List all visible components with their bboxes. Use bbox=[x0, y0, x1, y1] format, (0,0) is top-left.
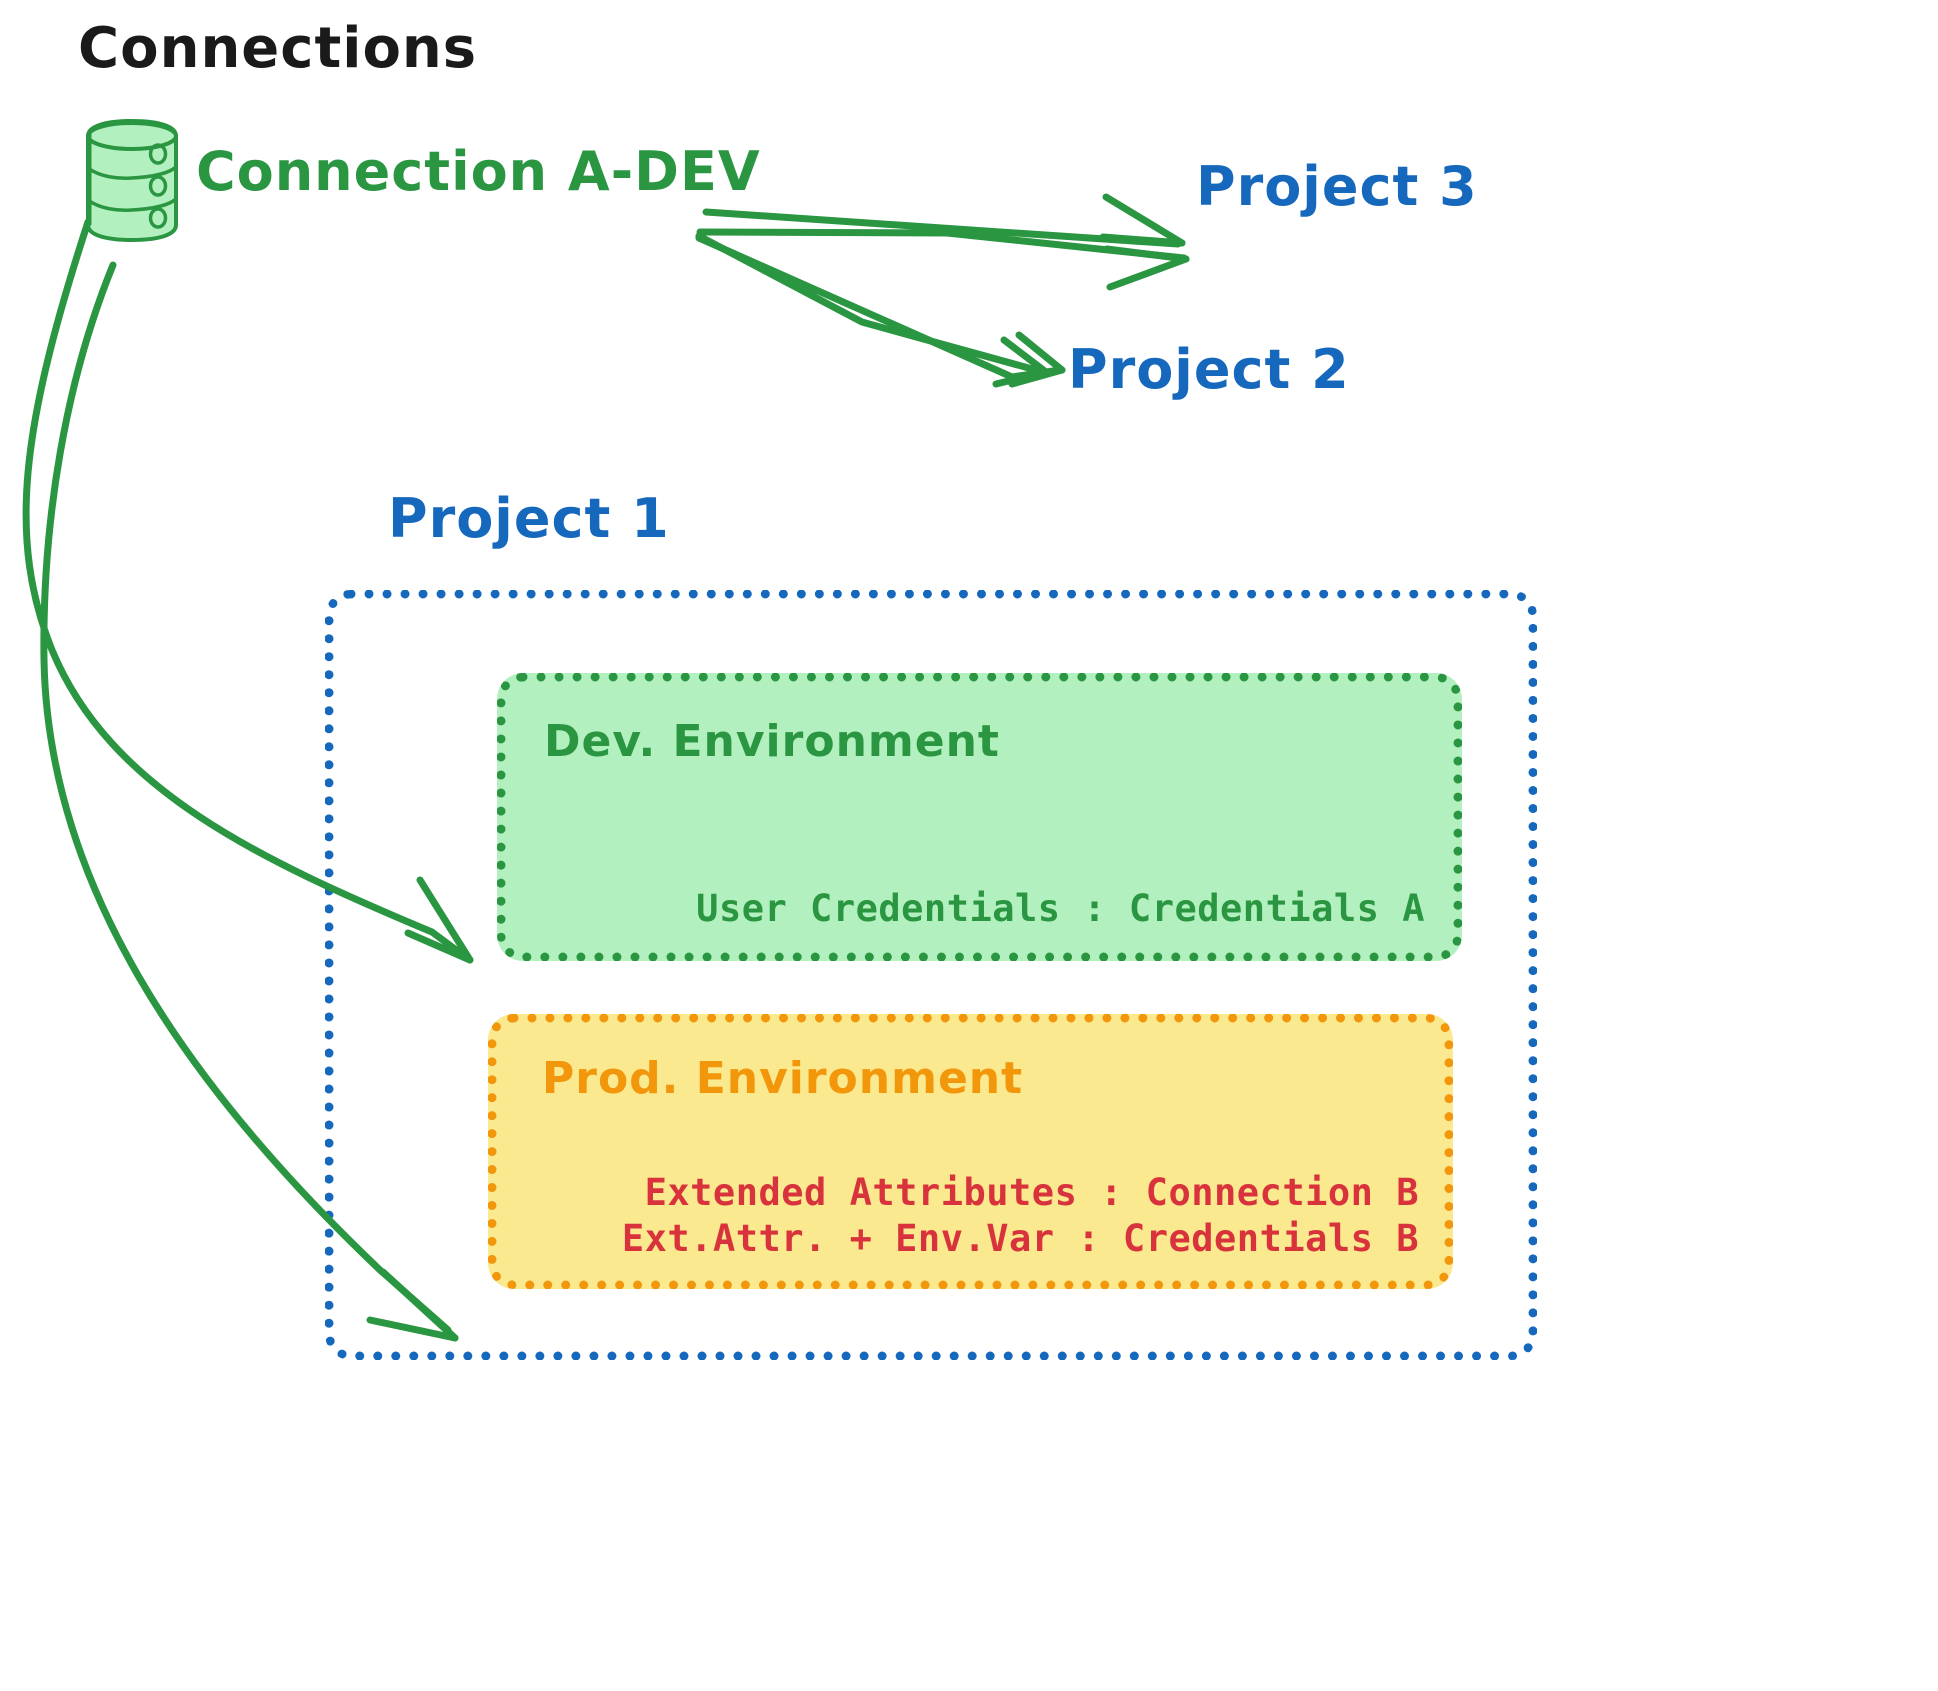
dev-environment-box: Dev. Environment User Credentials : Cred… bbox=[497, 673, 1462, 961]
page-title: Connections bbox=[78, 16, 477, 81]
prod-environment-row-extended-attributes: Extended Attributes : Connection B bbox=[622, 1170, 1419, 1216]
project-2-label: Project 2 bbox=[1068, 338, 1350, 401]
project-1-label: Project 1 bbox=[388, 487, 670, 550]
prod-environment-rows: Extended Attributes : Connection B Ext.A… bbox=[622, 1170, 1419, 1263]
prod-environment-box: Prod. Environment Extended Attributes : … bbox=[488, 1014, 1453, 1289]
dev-environment-title: Dev. Environment bbox=[544, 716, 1000, 767]
arrow-conn-to-project3-lower bbox=[700, 232, 1186, 287]
database-cylinder-icon bbox=[78, 118, 186, 243]
project-3-label: Project 3 bbox=[1196, 155, 1478, 218]
dev-environment-credentials-row: User Credentials : Credentials A bbox=[696, 887, 1425, 930]
arrow-conn-to-project2-upper bbox=[699, 236, 1046, 384]
connection-label: Connection A-DEV bbox=[196, 140, 761, 203]
arrow-conn-to-project2-lower bbox=[699, 238, 1062, 384]
prod-environment-title: Prod. Environment bbox=[542, 1053, 1023, 1104]
diagram-canvas: Connections Connection A-DEV Project 3 P… bbox=[0, 0, 1938, 1691]
prod-environment-row-ext-attr-env-var: Ext.Attr. + Env.Var : Credentials B bbox=[622, 1216, 1419, 1262]
arrow-conn-to-project3-upper bbox=[706, 197, 1182, 244]
